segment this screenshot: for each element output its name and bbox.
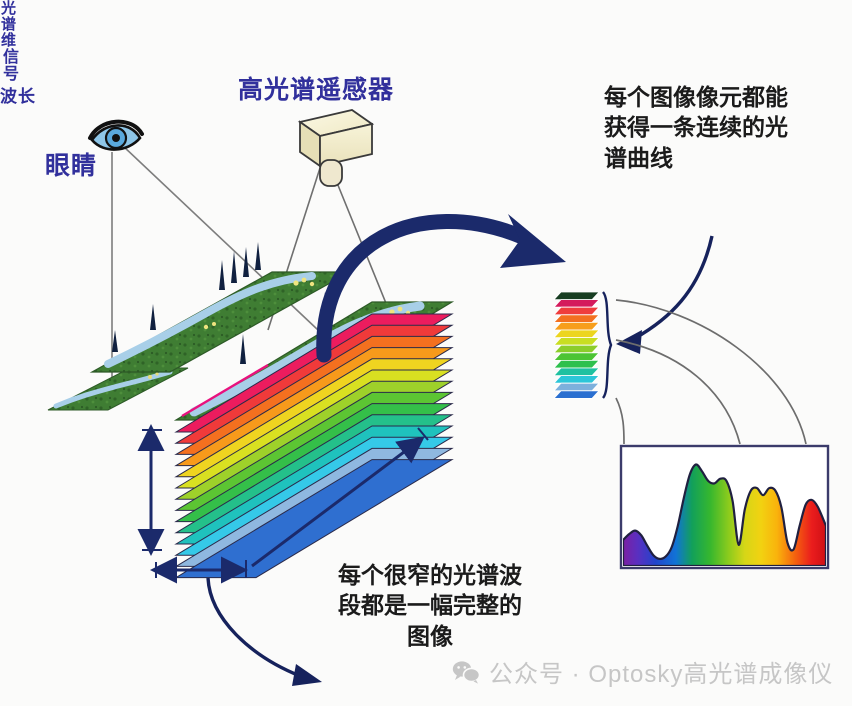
pixel-column-cell bbox=[554, 292, 599, 300]
pixel-column-cell bbox=[554, 391, 599, 399]
pixel-column-cell bbox=[554, 376, 599, 384]
pointer-arrow bbox=[616, 236, 712, 354]
pixel-column-cell bbox=[554, 338, 599, 346]
note-spectral-curve: 每个图像像元都能 获得一条连续的光 谱曲线 bbox=[604, 82, 788, 173]
pixel-column-cell bbox=[554, 383, 599, 391]
pixel-spectrum-column bbox=[554, 292, 599, 398]
pixel-column-cell bbox=[554, 368, 599, 376]
wechat-icon bbox=[452, 660, 480, 684]
leader-curves bbox=[616, 300, 806, 444]
diagram-canvas: 眼睛 高光谱遥感器 每个图像像元都能 获得一条连续的光 谱曲线 每个很窄的光谱波… bbox=[0, 0, 852, 706]
pixel-column-cell bbox=[554, 345, 599, 353]
pixel-column-cell bbox=[554, 360, 599, 368]
pixel-column-cell bbox=[554, 322, 599, 330]
pixel-column-cell bbox=[554, 353, 599, 361]
pixel-column-cell bbox=[554, 300, 599, 308]
spectrum-chart bbox=[621, 446, 828, 568]
watermark-text: 公众号 · Optosky高光谱成像仪 bbox=[489, 654, 833, 689]
terrain-strip-small bbox=[48, 368, 188, 410]
note-band-image: 每个很窄的光谱波 段都是一幅完整的 图像 bbox=[310, 560, 550, 651]
bottom-curved-arrow bbox=[208, 578, 322, 686]
pixel-column-cell bbox=[554, 330, 599, 338]
spectral-dimension-arrow bbox=[142, 430, 162, 550]
watermark: 公众号 · Optosky高光谱成像仪 bbox=[452, 654, 833, 689]
sensor-label: 高光谱遥感器 bbox=[238, 76, 394, 106]
sensor-box-icon bbox=[300, 110, 372, 186]
eye-label: 眼睛 bbox=[45, 152, 97, 182]
brace bbox=[603, 292, 611, 398]
pixel-column-cell bbox=[554, 307, 599, 315]
eye-icon bbox=[90, 122, 142, 150]
pixel-column-cell bbox=[554, 315, 599, 323]
